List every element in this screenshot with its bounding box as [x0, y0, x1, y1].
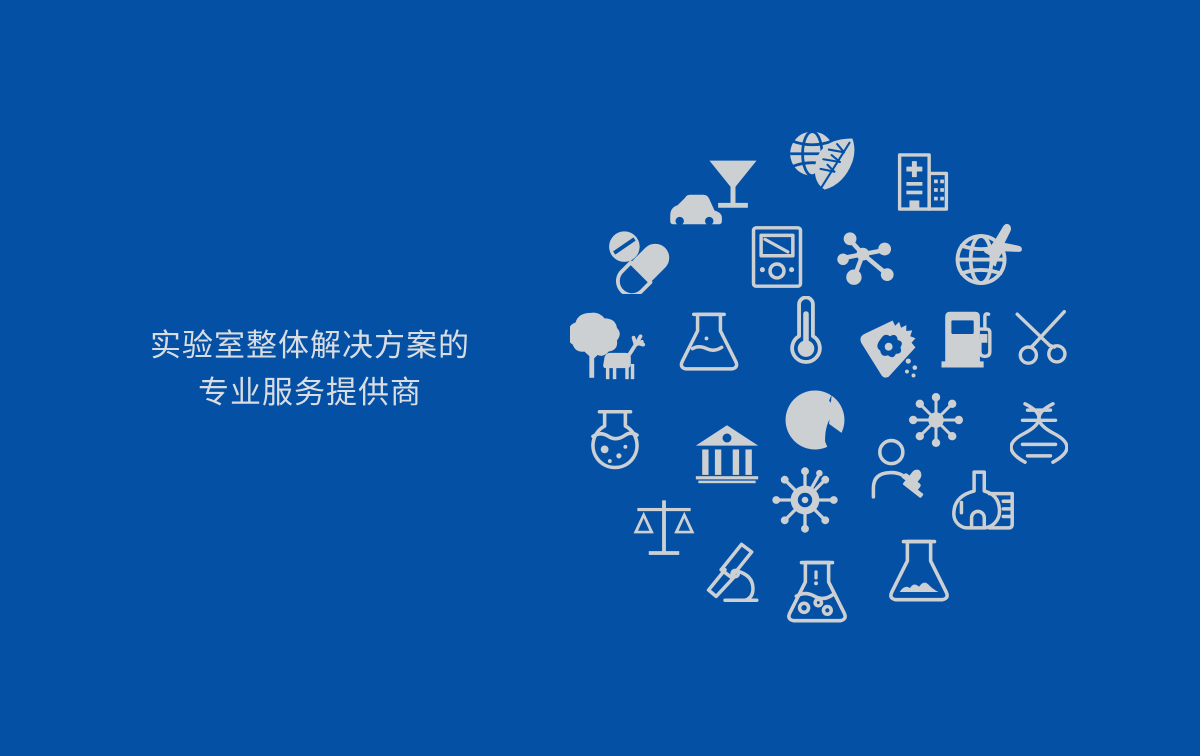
globe-airplane-icon: [952, 218, 1024, 290]
globe-leaf-icon: [786, 126, 862, 198]
cell-virus-icon: [770, 466, 840, 534]
glassware-set-icon: [950, 468, 1016, 532]
dna-helix-icon: [1010, 400, 1068, 466]
molecule-icon: [836, 226, 900, 290]
erlenmeyer-flask-icon: [678, 308, 740, 374]
page-title: 实验室整体解决方案的 专业服务提供商: [100, 322, 520, 416]
balance-scale-icon: [632, 494, 696, 560]
flask-bubbles-icon: [786, 556, 848, 626]
fuel-pump-icon: [940, 308, 1000, 370]
microscope-icon: [706, 538, 772, 604]
hospital-building-icon: [892, 150, 954, 214]
scissors-icon: [1010, 308, 1074, 370]
page-root: 实验室整体解决方案的 专业服务提供商: [0, 0, 1200, 756]
flask-powder-icon: [888, 536, 950, 604]
bank-building-icon: [692, 420, 762, 484]
icon-cloud: [560, 110, 1080, 630]
pill-capsule-icon: [604, 226, 674, 294]
page-title-line-2: 专业服务提供商: [100, 369, 520, 416]
circle-leaf-icon: [782, 388, 848, 452]
car-icon: [666, 184, 724, 236]
round-flask-icon: [582, 404, 648, 474]
multimeter-icon: [748, 224, 806, 290]
page-title-line-1: 实验室整体解决方案的: [100, 322, 520, 369]
seed-packet-icon: [852, 314, 924, 382]
tree-deer-icon: [570, 310, 646, 382]
thermometer-icon: [778, 296, 834, 368]
person-stamp-icon: [866, 438, 932, 502]
